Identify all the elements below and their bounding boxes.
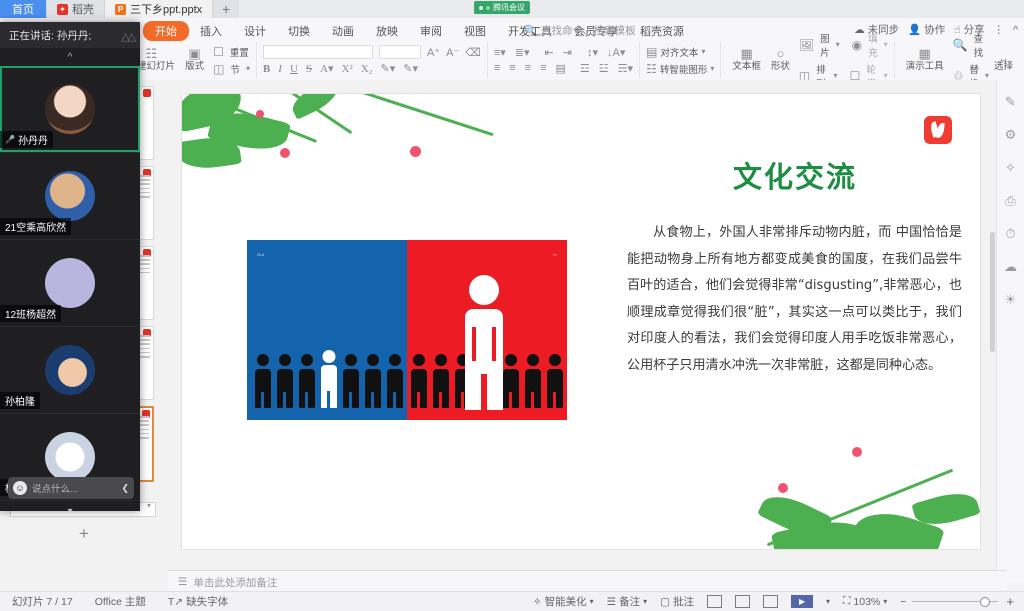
section-button[interactable]: ◫ 节 ▾ — [213, 62, 250, 76]
comments-label: 批注 — [673, 594, 694, 609]
align-center-icon[interactable]: ≡ — [509, 62, 515, 74]
font-name-input[interactable] — [263, 45, 373, 59]
chevron-down-icon[interactable]: ▾ — [884, 40, 888, 49]
slide-canvas-area: 文化交流 从食物上，外国人非常排斥动物内脏，而 中国恰恰是能把动物身上所有地方都… — [168, 80, 1024, 569]
normal-view-icon[interactable] — [707, 595, 722, 608]
avatar — [45, 171, 95, 221]
ribbon-tab-animation[interactable]: 动画 — [321, 21, 365, 41]
collaborate-button[interactable]: 👤 协作 — [908, 22, 945, 37]
zoom-slider-knob[interactable] — [980, 597, 990, 607]
meeting-chat-bar[interactable]: ☺ 说点什么... ❮ — [8, 477, 134, 499]
ribbon-group-font: A⁺ A⁻ ⌫ B I U S A▾ X² X₂ ✎▾ ✎▾ — [257, 42, 488, 78]
play-icon[interactable]: ▶ — [791, 595, 813, 608]
ribbon-group-tools: ▦ 演示工具 🔍 查找 ♲ 替换 ▾ ⎵ 选择 — [895, 42, 1024, 78]
superscript-button[interactable]: X² — [342, 63, 353, 75]
chevron-down-icon[interactable]: ▾ — [836, 40, 840, 49]
shrink-font-icon[interactable]: A⁻ — [446, 46, 459, 59]
comment-icon: ▢ — [660, 596, 670, 608]
participant-name-badge: 孙柏隆 — [0, 392, 40, 409]
add-slide-button[interactable]: + — [0, 521, 168, 547]
command-search[interactable]: 🔍 查找命令、搜索模板 — [524, 23, 636, 38]
section-icon: ◫ — [213, 62, 224, 76]
ai-sparkle-icon[interactable]: ✧ — [1005, 160, 1016, 176]
ribbon-tab-transition[interactable]: 切换 — [277, 21, 321, 41]
screenshot-icon[interactable]: ⎙ — [1005, 193, 1015, 209]
emoji-icon[interactable]: ☺ — [13, 481, 27, 495]
smartart-icon: ☷ — [646, 62, 657, 76]
layout-button[interactable]: ▣ 版式 — [180, 47, 209, 73]
tab-document-label: 三下乡ppt.pptx — [130, 1, 202, 17]
participant-tile[interactable]: 孙柏隆 — [0, 327, 140, 414]
ribbon-tab-review[interactable]: 审阅 — [409, 21, 453, 41]
shape-label: 形状 — [771, 61, 790, 73]
present-tool-label: 演示工具 — [906, 61, 944, 73]
meeting-collapse-button[interactable]: ^ — [0, 48, 140, 66]
reset-icon: ☐ — [213, 45, 224, 59]
picture-icon: 🖼 — [799, 38, 814, 52]
ribbon: ▾ 开始 插入 设计 切换 动画 放映 审阅 视图 开发工具 会员专享 稻壳资源… — [0, 18, 1024, 81]
tab-docer[interactable]: ✦ 稻壳 — [47, 0, 105, 18]
numbering-icon[interactable]: ≣▾ — [515, 46, 530, 59]
select-label: 选择 — [994, 61, 1013, 73]
chevron-down-icon[interactable]: ▾ — [246, 64, 250, 73]
notes-toggle-label: 备注 — [619, 594, 640, 609]
speaking-label: 正在讲话: 孙丹丹; — [9, 28, 91, 43]
comments-button[interactable]: ▢ 批注 — [660, 594, 694, 609]
zoom-slider[interactable]: − + — [900, 594, 1014, 609]
ribbon-group-paragraph: ≡▾ ≣▾ ⇤ ⇥ ↕▾ ↓A▾ ≡ ≡ ≡ ≡ ▤ ☲ ☳ — [488, 42, 640, 78]
chevron-up-icon[interactable]: ^ — [1013, 24, 1018, 36]
globe-icon[interactable]: ☀ — [1005, 292, 1017, 308]
layout-label: 版式 — [185, 61, 204, 73]
theme-label[interactable]: Office 主题 — [95, 594, 146, 609]
participant-tile[interactable]: 21空乘高欣然 — [0, 153, 140, 240]
more-options-icon[interactable]: ⋮ — [994, 24, 1005, 36]
text-effect-icon[interactable]: ✎▾ — [403, 62, 418, 75]
find-button[interactable]: 🔍 查找 — [953, 31, 989, 59]
decor-berry — [280, 148, 290, 158]
ribbon-tab-design[interactable]: 设计 — [233, 21, 277, 41]
slide-editing-surface[interactable]: 文化交流 从食物上，外国人非常排斥动物内脏，而 中国恰恰是能把动物身上所有地方都… — [182, 94, 980, 549]
notes-icon: ☰ — [178, 576, 187, 588]
chevron-down-icon[interactable]: ▾ — [643, 597, 647, 606]
bold-button[interactable]: B — [263, 63, 270, 75]
italic-button[interactable]: I — [278, 63, 282, 75]
missing-font-label: 缺失字体 — [186, 594, 228, 609]
taskbar-tencent-meeting[interactable]: 腾讯会议 — [474, 1, 530, 14]
textbox-label: 文本框 — [732, 61, 761, 73]
chevron-down-icon[interactable]: ▾ — [590, 597, 594, 606]
ribbon-group-align: ▤ 对齐文本 ▾ ☷ 转智能图形 ▾ — [640, 42, 721, 78]
history-clock-icon[interactable]: ⏱ — [1005, 226, 1015, 242]
docer-badge-icon — [143, 89, 151, 97]
participant-name: 21空乘高欣然 — [5, 219, 66, 234]
columns-icon[interactable]: ☲ — [580, 62, 590, 75]
smart-beautify-button[interactable]: ✧ 智能美化 ▾ — [533, 594, 594, 609]
decrease-indent-icon[interactable]: ⇤ — [545, 46, 554, 59]
zoom-slider-track[interactable] — [912, 601, 998, 602]
font-warning-icon: T↗ — [168, 596, 183, 608]
tab-home[interactable]: 首页 — [0, 0, 47, 18]
status-dot-active-icon — [486, 6, 490, 10]
docer-leaf-logo — [924, 116, 952, 144]
picture-label: 图片 — [820, 31, 830, 59]
picture-left-panel: Out — [247, 240, 407, 420]
participant-tile[interactable]: 🎤 孙丹丹 — [0, 66, 140, 153]
align-text-label: 对齐文本 — [660, 45, 698, 59]
chevron-down-icon[interactable]: ▾ — [884, 71, 888, 80]
ribbon-tab-insert[interactable]: 插入 — [189, 21, 233, 41]
participant-name: 孙柏隆 — [5, 393, 35, 408]
wps-presentation-window: 首页 ✦ 稻壳 P 三下乡ppt.pptx + 腾讯会议 ▾ 开始 插入 设计 … — [0, 0, 1024, 611]
chevron-left-icon[interactable]: ❮ — [121, 483, 129, 494]
decor-berry — [410, 146, 421, 157]
tab-home-label: 首页 — [12, 1, 34, 17]
settings-sliders-icon[interactable]: ⚙ — [1005, 127, 1017, 143]
notes-pane[interactable]: ☰ 单击此处添加备注 — [168, 570, 1007, 593]
ribbon-tab-docer-resource[interactable]: 稻壳资源 — [629, 21, 695, 41]
avatar — [45, 432, 95, 482]
align-text-icon: ▤ — [646, 45, 657, 59]
present-tool-icon: ▦ — [919, 47, 931, 61]
avatar — [45, 345, 95, 395]
zoom-in-button[interactable]: + — [1006, 594, 1014, 609]
status-dot-icon — [479, 6, 483, 10]
notes-placeholder: 单击此处添加备注 — [193, 575, 277, 590]
textbox-icon: ▦ — [740, 47, 752, 61]
command-search-placeholder: 查找命令、搜索模板 — [541, 23, 636, 38]
sort-icon[interactable]: ↓A▾ — [607, 46, 625, 59]
zoom-out-button[interactable]: − — [900, 596, 906, 608]
align-left-icon[interactable]: ≡ — [494, 62, 500, 74]
chevron-down-icon[interactable]: ▾ — [883, 597, 887, 606]
status-bar: 幻灯片 7 / 17 Office 主题 T↗ 缺失字体 ✧ 智能美化 ▾ ☰ … — [0, 591, 1024, 611]
clear-format-icon[interactable]: ⌫ — [465, 46, 481, 59]
strikethrough-button[interactable]: S — [306, 63, 312, 75]
zoom-controls: ⛶ 103% ▾ — [843, 595, 887, 608]
ribbon-commands: ☷ 新建幻灯片 ▣ 版式 ☐ 重置 ◫ 节 ▾ — [0, 42, 1024, 80]
notes-toggle-button[interactable]: ☰ 备注 ▾ — [607, 594, 647, 609]
shape-icon: ○ — [776, 47, 784, 61]
ribbon-tab-start[interactable]: 开始 — [143, 21, 189, 41]
section-label: 节 — [230, 62, 240, 76]
docer-icon: ✦ — [57, 4, 68, 15]
decor-berry — [778, 483, 788, 493]
participant-name-badge: 12班杨超然 — [0, 305, 61, 322]
align-text-button[interactable]: ▤ 对齐文本 ▾ — [646, 45, 705, 59]
convert-smartart-button[interactable]: ☷ 转智能图形 ▾ — [646, 62, 714, 76]
chevron-down-icon[interactable]: ▾ — [834, 71, 838, 80]
fit-to-window-icon[interactable]: ⛶ — [843, 595, 850, 608]
decor-berry — [852, 447, 862, 457]
bullets-icon[interactable]: ≡▾ — [494, 46, 506, 59]
missing-font-warning[interactable]: T↗ 缺失字体 — [168, 594, 228, 609]
collaborate-label: 协作 — [924, 22, 945, 37]
participant-name: 孙丹丹 — [18, 132, 48, 147]
reading-view-icon[interactable] — [763, 595, 778, 608]
slide-counter: 幻灯片 7 / 17 — [12, 594, 73, 609]
chat-input[interactable]: 说点什么... — [32, 481, 116, 495]
avatar — [45, 258, 95, 308]
find-icon: 🔍 — [953, 38, 968, 52]
picture-right-label: In — [553, 252, 557, 257]
shape-button[interactable]: ○ 形状 — [766, 47, 795, 73]
decor-berry — [256, 110, 264, 118]
new-slide-icon: ☷ — [145, 47, 157, 61]
fill-label: 填充 — [868, 31, 878, 59]
ribbon-tab-view[interactable]: 视图 — [453, 21, 497, 41]
new-tab-button[interactable]: + — [213, 0, 239, 18]
taskbar-item-label: 腾讯会议 — [493, 2, 525, 13]
slide-body-text[interactable]: 从食物上，外国人非常排斥动物内脏，而 中国恰恰是能把动物身上所有地方都变成美食的… — [627, 220, 962, 380]
tab-docer-label: 稻壳 — [72, 1, 94, 17]
microphone-icon: 🎤 — [5, 135, 15, 144]
present-tool-button[interactable]: ▦ 演示工具 — [901, 47, 949, 73]
slide-title[interactable]: 文化交流 — [630, 154, 960, 196]
beautify-icon: ✧ — [533, 596, 542, 608]
participant-tile[interactable]: 12班杨超然 — [0, 240, 140, 327]
meeting-scroll-down-button[interactable]: ▾ — [0, 501, 140, 511]
collaborate-icon: 👤 — [908, 23, 921, 36]
ribbon-group-insert: ▦ 文本框 ○ 形状 🖼 图片 ▾ ◉ 填充 ▾ — [721, 42, 894, 78]
design-idea-icon[interactable]: ✎ — [1005, 94, 1016, 110]
audio-wave-icon: △△ — [121, 30, 134, 43]
smartart-label: 转智能图形 — [660, 62, 708, 76]
select-icon: ⎵ — [1001, 47, 1006, 61]
picture-big-figure — [465, 275, 503, 410]
picture-button[interactable]: 🖼 图片 ▾ ◉ 填充 ▾ — [799, 31, 888, 59]
ribbon-tab-slideshow[interactable]: 放映 — [365, 21, 409, 41]
subscript-button[interactable]: X₂ — [361, 63, 373, 75]
decor-stem — [312, 94, 493, 136]
chevron-down-icon[interactable]: ▾ — [710, 64, 714, 73]
textbox-button[interactable]: ▦ 文本框 — [727, 47, 766, 73]
slide-sorter-icon[interactable] — [735, 595, 750, 608]
search-icon: 🔍 — [524, 24, 537, 37]
distribute-icon[interactable]: ▤ — [556, 62, 566, 75]
pptx-icon: P — [115, 4, 126, 15]
beautify-label: 智能美化 — [545, 594, 587, 609]
align-right-icon[interactable]: ≡ — [525, 62, 531, 74]
fill-icon[interactable]: ◉ — [852, 38, 862, 52]
participant-name: 12班杨超然 — [5, 306, 56, 321]
meeting-speaking-bar: 正在讲话: 孙丹丹; △△ — [0, 22, 140, 48]
right-side-toolbar: ✎ ⚙ ✧ ⎙ ⏱ ☁ ☀ — [996, 80, 1024, 583]
decor-leaf — [288, 94, 343, 120]
play-dropdown-icon[interactable]: ▾ — [826, 597, 830, 606]
increase-indent-icon[interactable]: ⇥ — [563, 46, 572, 59]
underline-button[interactable]: U — [290, 63, 298, 75]
line-spacing-icon[interactable]: ↕▾ — [587, 46, 598, 59]
reset-button[interactable]: ☐ 重置 — [213, 45, 250, 59]
slide-picture[interactable]: Out — [247, 240, 567, 420]
participant-name-badge: 🎤 孙丹丹 — [0, 131, 53, 148]
cloud-doc-icon[interactable]: ☁ — [1004, 259, 1017, 275]
text-direction-icon[interactable]: ☳ — [599, 62, 609, 75]
font-size-input[interactable] — [379, 45, 421, 59]
tab-document[interactable]: P 三下乡ppt.pptx — [105, 0, 213, 18]
reset-label: 重置 — [230, 45, 249, 59]
notes-icon: ☰ — [607, 596, 616, 608]
font-color-button[interactable]: A▾ — [320, 62, 333, 75]
zoom-level-label[interactable]: 103% — [853, 596, 880, 608]
avatar — [45, 84, 95, 134]
canvas-vertical-scrollbar[interactable] — [990, 232, 995, 352]
find-label: 查找 — [974, 31, 989, 59]
chevron-down-icon[interactable]: ▾ — [701, 47, 705, 56]
picture-highlight-figure — [321, 350, 337, 408]
select-button[interactable]: ⎵ 选择 — [989, 47, 1018, 73]
grow-font-icon[interactable]: A⁺ — [427, 46, 440, 59]
highlight-icon[interactable]: ✎▾ — [381, 62, 396, 75]
align-text-icon[interactable]: ☴▾ — [618, 62, 633, 75]
participant-name-badge: 21空乘高欣然 — [0, 218, 71, 235]
layout-icon: ▣ — [188, 47, 200, 61]
justify-icon[interactable]: ≡ — [540, 62, 546, 74]
tencent-meeting-panel[interactable]: 正在讲话: 孙丹丹; △△ ^ 🎤 孙丹丹 21空乘高欣然 12班杨超然 — [0, 22, 140, 511]
picture-left-label: Out — [257, 252, 264, 257]
picture-right-panel: In — [407, 240, 567, 420]
